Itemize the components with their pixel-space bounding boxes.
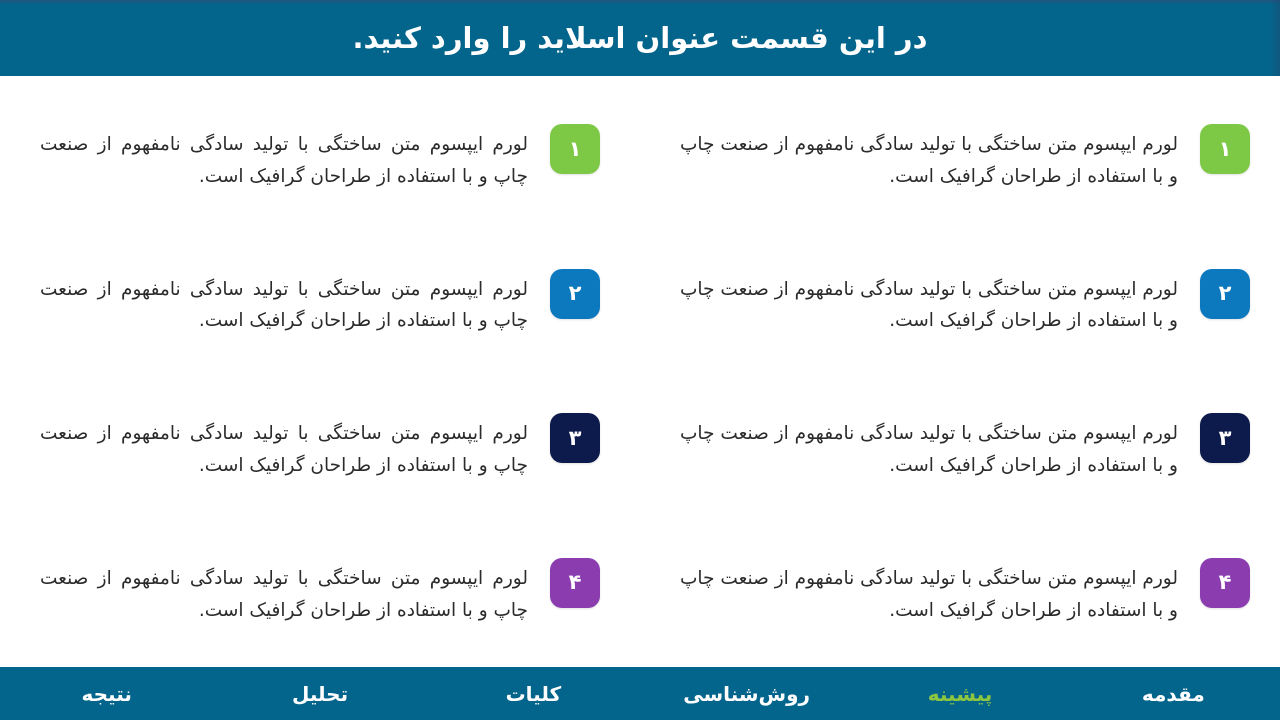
list-item[interactable]: ۱ لورم ایپسوم متن ساختگی با تولید سادگی … bbox=[680, 124, 1250, 193]
point-text: لورم ایپسوم متن ساختگی با تولید سادگی نا… bbox=[40, 269, 528, 338]
nav-item-pishine[interactable]: پیشینه bbox=[853, 684, 1066, 704]
point-number-badge: ۴ bbox=[550, 558, 600, 608]
nav-item-moghaddame[interactable]: مقدمه bbox=[1067, 684, 1280, 704]
slide-header: در این قسمت عنوان اسلاید را وارد کنید. bbox=[0, 0, 1280, 76]
point-number-badge: ۴ bbox=[1200, 558, 1250, 608]
nav-item-kolliyat[interactable]: کلیات bbox=[427, 684, 640, 704]
list-item[interactable]: ۲ لورم ایپسوم متن ساختگی با تولید سادگی … bbox=[680, 269, 1250, 338]
point-number-badge: ۲ bbox=[550, 269, 600, 319]
point-text: لورم ایپسوم متن ساختگی با تولید سادگی نا… bbox=[680, 413, 1178, 482]
point-text: لورم ایپسوم متن ساختگی با تولید سادگی نا… bbox=[40, 413, 528, 482]
point-number-badge: ۳ bbox=[550, 413, 600, 463]
nav-item-ravesh-shenasi[interactable]: روش‌شناسی bbox=[640, 684, 853, 704]
list-item[interactable]: ۳ لورم ایپسوم متن ساختگی با تولید سادگی … bbox=[40, 413, 600, 482]
page-title: در این قسمت عنوان اسلاید را وارد کنید. bbox=[353, 21, 928, 56]
list-item[interactable]: ۱ لورم ایپسوم متن ساختگی با تولید سادگی … bbox=[40, 124, 600, 193]
point-number-badge: ۳ bbox=[1200, 413, 1250, 463]
point-text: لورم ایپسوم متن ساختگی با تولید سادگی نا… bbox=[680, 558, 1178, 627]
nav-item-tahlil[interactable]: تحلیل bbox=[213, 684, 426, 704]
points-column-left: ۱ لورم ایپسوم متن ساختگی با تولید سادگی … bbox=[0, 124, 640, 667]
list-item[interactable]: ۲ لورم ایپسوم متن ساختگی با تولید سادگی … bbox=[40, 269, 600, 338]
points-column-right: ۱ لورم ایپسوم متن ساختگی با تولید سادگی … bbox=[640, 124, 1280, 667]
point-text: لورم ایپسوم متن ساختگی با تولید سادگی نا… bbox=[40, 558, 528, 627]
nav-item-natije[interactable]: نتیجه bbox=[0, 684, 213, 704]
list-item[interactable]: ۳ لورم ایپسوم متن ساختگی با تولید سادگی … bbox=[680, 413, 1250, 482]
list-item[interactable]: ۴ لورم ایپسوم متن ساختگی با تولید سادگی … bbox=[40, 558, 600, 627]
list-item[interactable]: ۴ لورم ایپسوم متن ساختگی با تولید سادگی … bbox=[680, 558, 1250, 627]
slide-content: ۱ لورم ایپسوم متن ساختگی با تولید سادگی … bbox=[0, 76, 1280, 667]
point-text: لورم ایپسوم متن ساختگی با تولید سادگی نا… bbox=[680, 124, 1178, 193]
section-navigation-bar: مقدمه پیشینه روش‌شناسی کلیات تحلیل نتیجه bbox=[0, 667, 1280, 720]
slide: در این قسمت عنوان اسلاید را وارد کنید. ۱… bbox=[0, 0, 1280, 720]
point-number-badge: ۱ bbox=[550, 124, 600, 174]
point-text: لورم ایپسوم متن ساختگی با تولید سادگی نا… bbox=[40, 124, 528, 193]
point-text: لورم ایپسوم متن ساختگی با تولید سادگی نا… bbox=[680, 269, 1178, 338]
point-number-badge: ۱ bbox=[1200, 124, 1250, 174]
point-number-badge: ۲ bbox=[1200, 269, 1250, 319]
